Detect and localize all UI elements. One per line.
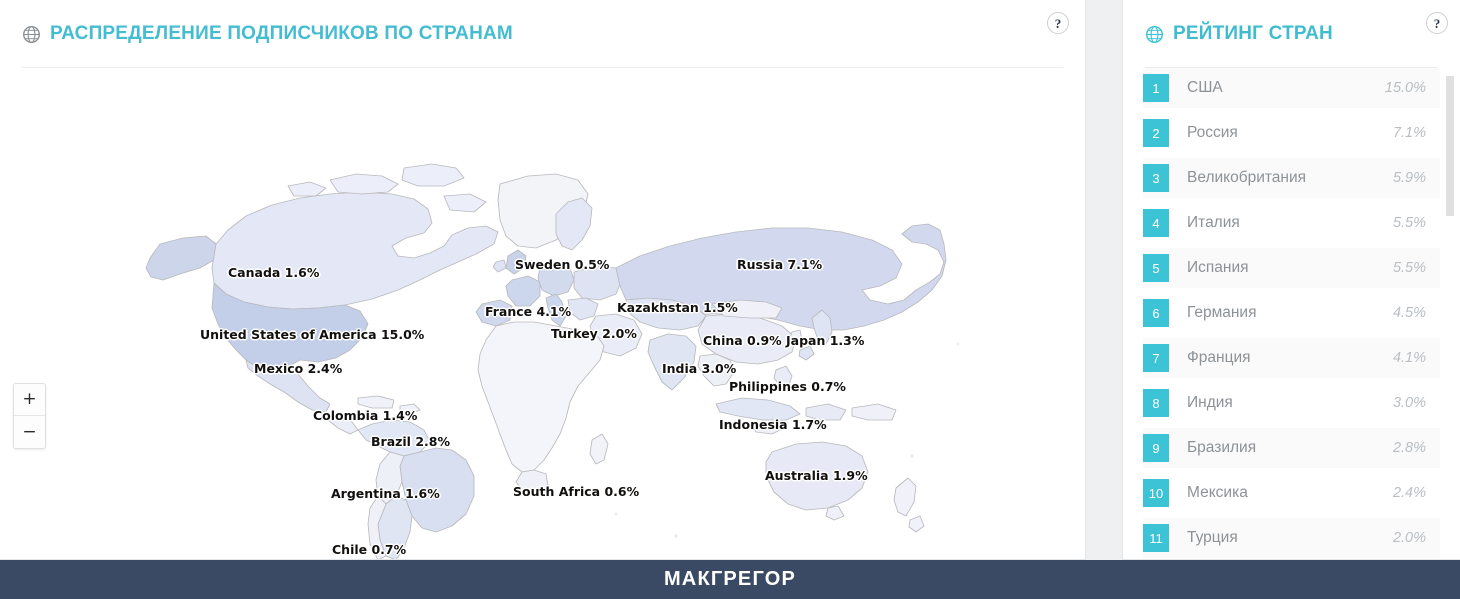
country-name: Испания: [1169, 259, 1393, 277]
country-name: Великобритания: [1169, 169, 1393, 187]
country-value: 2.0%: [1393, 530, 1440, 546]
rank-badge: 8: [1143, 389, 1169, 417]
country-name: Мексика: [1169, 484, 1393, 502]
rank-badge: 7: [1143, 344, 1169, 372]
rank-badge: 6: [1143, 299, 1169, 327]
map-zoom-controls: + −: [13, 383, 46, 449]
rank-badge: 4: [1143, 209, 1169, 237]
ranking-panel-header: РЕЙТИНГ СТРАН ?: [1123, 0, 1460, 68]
zoom-out-button[interactable]: −: [14, 416, 45, 448]
world-map[interactable]: Canada 1.6% United States of America 15.…: [0, 68, 1085, 560]
scrollbar-thumb[interactable]: [1446, 76, 1454, 216]
footer-title: МАКГРЕГОР: [664, 568, 796, 591]
rank-badge: 5: [1143, 254, 1169, 282]
globe-icon: [1145, 25, 1164, 44]
list-item[interactable]: 4 Италия 5.5%: [1143, 203, 1440, 243]
help-button[interactable]: ?: [1047, 12, 1069, 34]
ranking-scrollbar[interactable]: [1446, 76, 1454, 548]
country-name: Турция: [1169, 529, 1393, 547]
country-value: 4.5%: [1393, 305, 1440, 321]
country-value: 3.0%: [1393, 395, 1440, 411]
list-item[interactable]: 5 Испания 5.5%: [1143, 248, 1440, 288]
map-panel: РАСПРЕДЕЛЕНИЕ ПОДПИСЧИКОВ ПО СТРАНАМ ?: [0, 0, 1086, 560]
country-name: США: [1169, 79, 1385, 97]
country-name: Россия: [1169, 124, 1393, 142]
help-button[interactable]: ?: [1426, 12, 1448, 34]
country-ranking-panel: РЕЙТИНГ СТРАН ? 1 США 15.0% 2 Россия 7.1…: [1122, 0, 1460, 560]
country-value: 5.9%: [1393, 170, 1440, 186]
list-item[interactable]: 8 Индия 3.0%: [1143, 383, 1440, 423]
rank-badge: 3: [1143, 164, 1169, 192]
list-item[interactable]: 2 Россия 7.1%: [1143, 113, 1440, 153]
country-name: Италия: [1169, 214, 1393, 232]
globe-icon: [22, 25, 41, 44]
country-name: Франция: [1169, 349, 1393, 367]
dashboard-root: РАСПРЕДЕЛЕНИЕ ПОДПИСЧИКОВ ПО СТРАНАМ ?: [0, 0, 1460, 599]
country-name: Индия: [1169, 394, 1393, 412]
list-item[interactable]: 10 Мексика 2.4%: [1143, 473, 1440, 513]
ranking-list-container[interactable]: 1 США 15.0% 2 Россия 7.1% 3 Великобритан…: [1123, 68, 1460, 560]
ranking-list: 1 США 15.0% 2 Россия 7.1% 3 Великобритан…: [1123, 68, 1460, 558]
country-value: 2.4%: [1393, 485, 1440, 501]
rank-badge: 2: [1143, 119, 1169, 147]
map-panel-header: РАСПРЕДЕЛЕНИЕ ПОДПИСЧИКОВ ПО СТРАНАМ ?: [0, 0, 1085, 68]
footer-bar: МАКГРЕГОР: [0, 560, 1460, 599]
list-item[interactable]: 6 Германия 4.5%: [1143, 293, 1440, 333]
country-value: 5.5%: [1393, 260, 1440, 276]
zoom-in-button[interactable]: +: [14, 384, 45, 416]
country-name: Германия: [1169, 304, 1393, 322]
list-item[interactable]: 3 Великобритания 5.9%: [1143, 158, 1440, 198]
country-value: 15.0%: [1385, 80, 1440, 96]
list-item[interactable]: 9 Бразилия 2.8%: [1143, 428, 1440, 468]
list-item[interactable]: 11 Турция 2.0%: [1143, 518, 1440, 558]
country-value: 4.1%: [1393, 350, 1440, 366]
rank-badge: 11: [1143, 524, 1169, 552]
rank-badge: 10: [1143, 479, 1169, 507]
country-name: Бразилия: [1169, 439, 1393, 457]
country-value: 7.1%: [1393, 125, 1440, 141]
list-item[interactable]: 1 США 15.0%: [1143, 68, 1440, 108]
rank-badge: 1: [1143, 74, 1169, 102]
rank-badge: 9: [1143, 434, 1169, 462]
ranking-panel-title: РЕЙТИНГ СТРАН: [1173, 23, 1333, 45]
world-map-svg: [0, 68, 1085, 560]
map-panel-title: РАСПРЕДЕЛЕНИЕ ПОДПИСЧИКОВ ПО СТРАНАМ: [50, 23, 513, 45]
list-item[interactable]: 7 Франция 4.1%: [1143, 338, 1440, 378]
country-value: 2.8%: [1393, 440, 1440, 456]
country-value: 5.5%: [1393, 215, 1440, 231]
